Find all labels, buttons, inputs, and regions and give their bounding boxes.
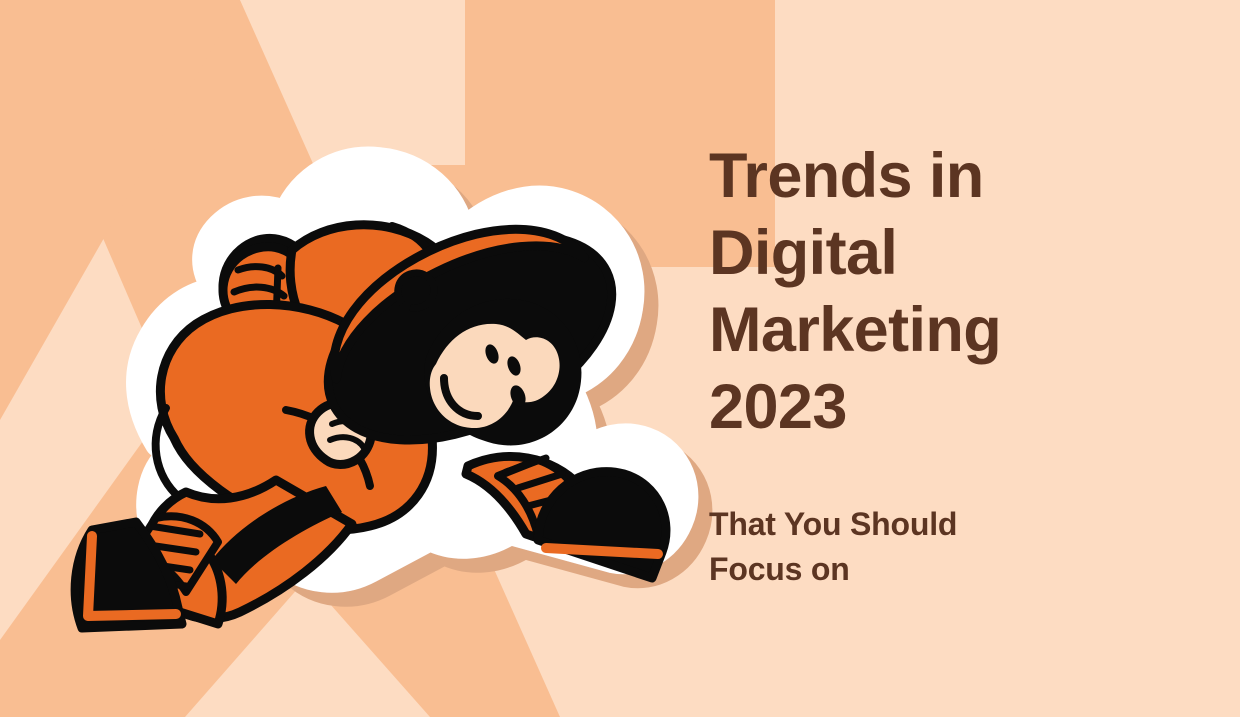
page-subtitle: That You Should Focus on — [709, 502, 1209, 592]
text-block: Trends in Digital Marketing 2023 That Yo… — [709, 138, 1209, 592]
right-shoe-sole — [546, 548, 658, 554]
page-title: Trends in Digital Marketing 2023 — [709, 138, 1209, 446]
right-shoe — [538, 472, 666, 578]
hair-tuft — [398, 273, 434, 308]
running-character-illustration — [40, 108, 680, 608]
promo-banner: Trends in Digital Marketing 2023 That Yo… — [0, 0, 1240, 717]
